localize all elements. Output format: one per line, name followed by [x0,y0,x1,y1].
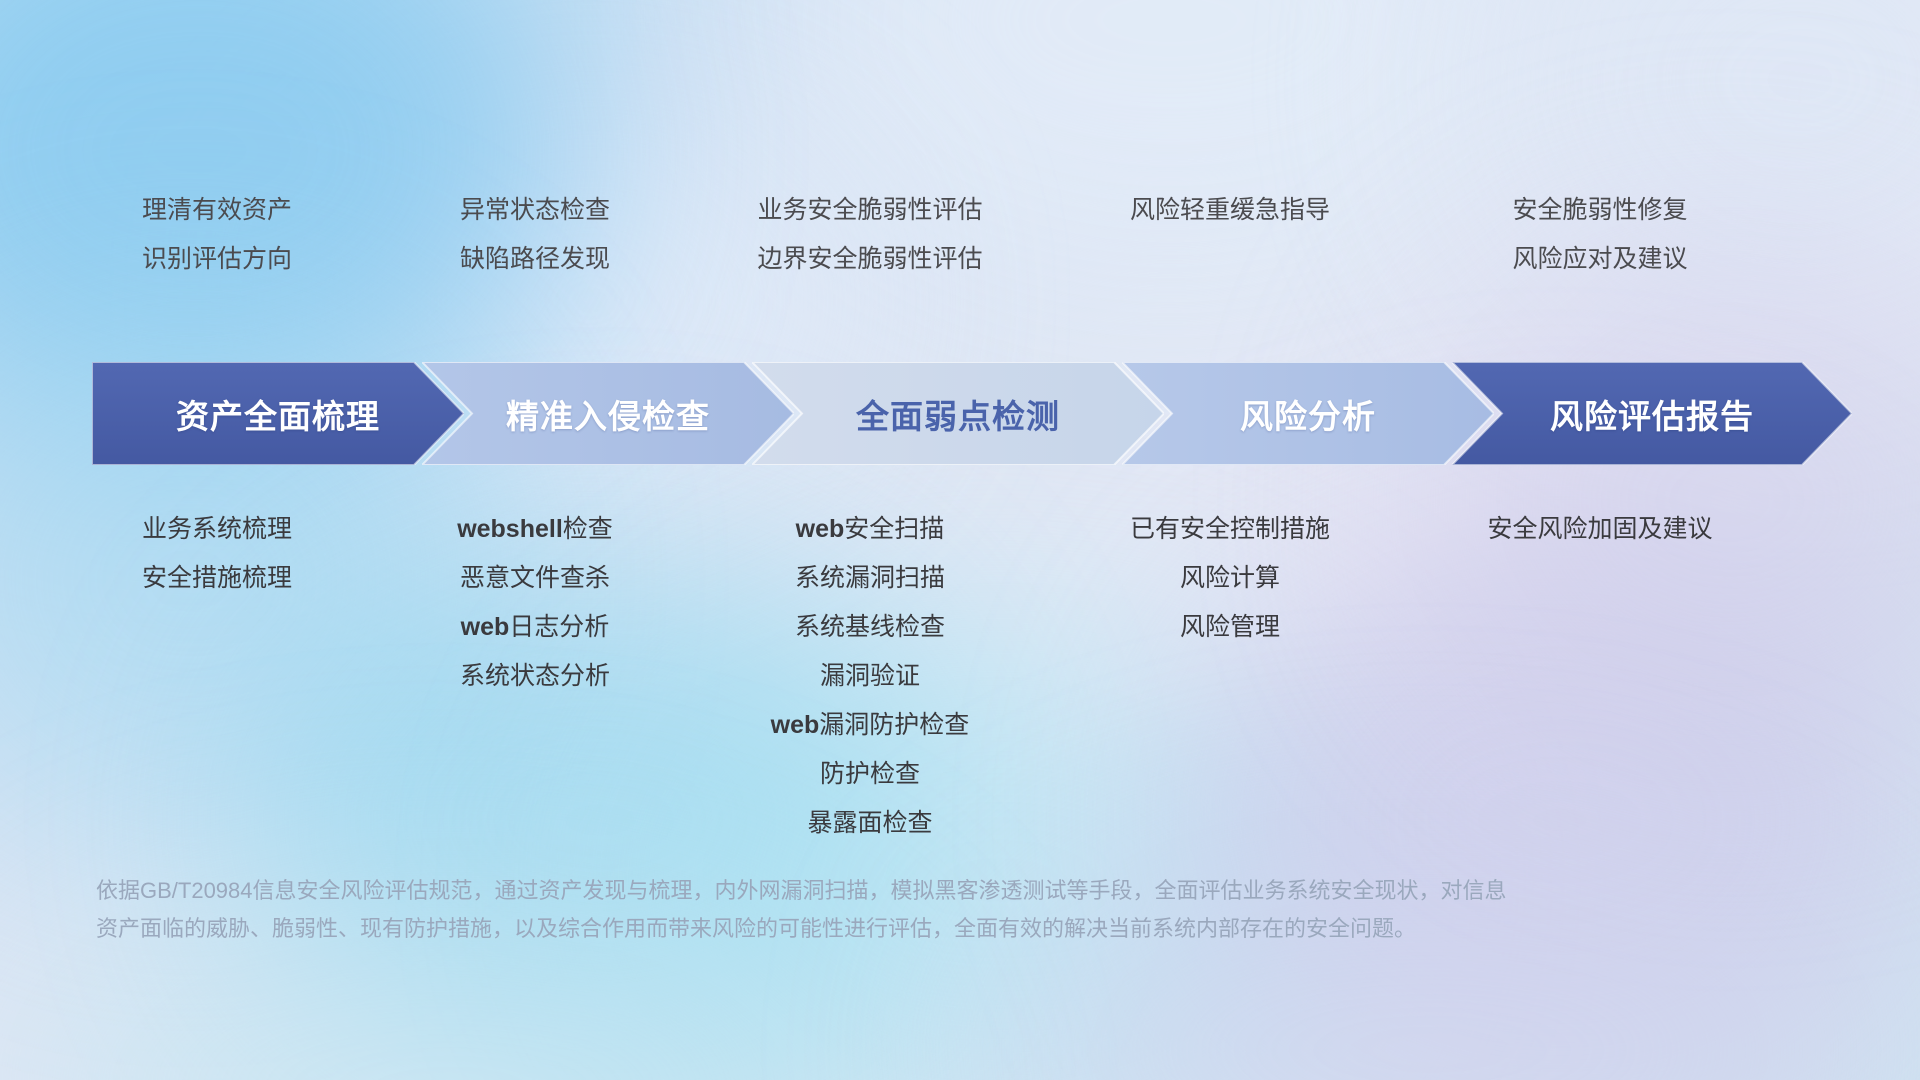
bottom-item-rest: 安全措施梳理 [142,564,292,592]
bottom-item-rest: 检查 [563,515,613,543]
bottom-item-rest: 风险管理 [1180,613,1280,641]
top-label: 安全脆弱性修复 [1390,186,1810,235]
bottom-item-bold: web [461,613,510,641]
process-stage-label: 风险评估报告 [1550,390,1754,438]
top-label: 理清有效资产 [52,186,382,235]
bottom-item-rest: 风险计算 [1180,564,1280,592]
bottom-items-stage-4: 已有安全控制措施 风险计算 风险管理 [1050,505,1410,652]
top-labels-stage-1: 理清有效资产 识别评估方向 [52,186,382,284]
process-stage-arrow-5[interactable]: 风险评估报告 [1452,362,1852,465]
process-stage-label: 全面弱点检测 [856,390,1060,438]
bottom-item: webshell检查 [390,505,680,554]
bottom-item: web日志分析 [390,603,680,652]
top-labels-stage-3: 业务安全脆弱性评估 边界安全脆弱性评估 [690,186,1050,284]
process-stage-label: 精准入侵检查 [506,390,710,438]
top-labels-stage-5: 安全脆弱性修复 风险应对及建议 [1390,186,1810,284]
top-label: 风险应对及建议 [1390,235,1810,284]
bottom-item: 系统漏洞扫描 [690,554,1050,603]
bottom-item: web安全扫描 [690,505,1050,554]
bottom-item: 防护检查 [690,750,1050,799]
bottom-item: 漏洞验证 [690,652,1050,701]
top-labels-stage-4: 风险轻重缓急指导 [1050,186,1410,235]
bottom-item: 业务系统梳理 [52,505,382,554]
bottom-item-rest: 安全风险加固及建议 [1487,515,1712,543]
bottom-items-stage-2: webshell检查 恶意文件查杀 web日志分析 系统状态分析 [390,505,680,701]
process-stage-label: 风险分析 [1240,390,1376,438]
bottom-item-rest: 安全扫描 [844,515,944,543]
bottom-item-rest: 系统漏洞扫描 [795,564,945,592]
bottom-item-rest: 系统基线检查 [795,613,945,641]
bottom-item-rest: 暴露面检查 [807,809,932,837]
process-arrow-band: 资产全面梳理 精准入侵检查 [92,362,1852,465]
process-stage-arrow-2[interactable]: 精准入侵检查 [422,362,794,465]
bottom-item: 已有安全控制措施 [1050,505,1410,554]
top-label: 识别评估方向 [52,235,382,284]
process-diagram: 理清有效资产 识别评估方向 异常状态检查 缺陷路径发现 业务安全脆弱性评估 边界… [0,0,1920,1080]
bottom-item-rest: 防护检查 [820,760,920,788]
bottom-items-stage-1: 业务系统梳理 安全措施梳理 [52,505,382,603]
bottom-item-rest: 业务系统梳理 [142,515,292,543]
bottom-item: 风险管理 [1050,603,1410,652]
bottom-item-bold: webshell [457,515,563,543]
bottom-item-rest: 漏洞防护检查 [819,711,969,739]
process-stage-arrow-3[interactable]: 全面弱点检测 [752,362,1164,465]
bottom-item-bold: web [796,515,845,543]
bottom-items-stage-5: 安全风险加固及建议 [1390,505,1810,554]
bottom-item: 安全措施梳理 [52,554,382,603]
bottom-items-stage-3: web安全扫描 系统漏洞扫描 系统基线检查 漏洞验证 web漏洞防护检查 防护检… [690,505,1050,848]
bottom-item-rest: 恶意文件查杀 [460,564,610,592]
bottom-item: 系统基线检查 [690,603,1050,652]
top-label: 边界安全脆弱性评估 [690,235,1050,284]
process-stage-arrow-4[interactable]: 风险分析 [1122,362,1494,465]
top-labels-stage-2: 异常状态检查 缺陷路径发现 [390,186,680,284]
top-label: 业务安全脆弱性评估 [690,186,1050,235]
top-label: 风险轻重缓急指导 [1050,186,1410,235]
footer-line-2: 资产面临的威胁、脆弱性、现有防护措施，以及综合作用而带来风险的可能性进行评估，全… [96,910,1616,948]
footer-description: 依据GB/T20984信息安全风险评估规范，通过资产发现与梳理，内外网漏洞扫描，… [96,872,1616,948]
top-label: 缺陷路径发现 [390,235,680,284]
bottom-item-rest: 漏洞验证 [820,662,920,690]
bottom-item-rest: 日志分析 [509,613,609,641]
process-stage-label: 资产全面梳理 [176,390,380,438]
footer-line-1: 依据GB/T20984信息安全风险评估规范，通过资产发现与梳理，内外网漏洞扫描，… [96,872,1616,910]
bottom-item: 系统状态分析 [390,652,680,701]
bottom-item: 安全风险加固及建议 [1390,505,1810,554]
bottom-item: 风险计算 [1050,554,1410,603]
bottom-item-rest: 已有安全控制措施 [1130,515,1330,543]
bottom-item: 恶意文件查杀 [390,554,680,603]
bottom-item: 暴露面检查 [690,799,1050,848]
bottom-item-rest: 系统状态分析 [460,662,610,690]
process-stage-arrow-1[interactable]: 资产全面梳理 [92,362,464,465]
bottom-item-bold: web [771,711,820,739]
top-label: 异常状态检查 [390,186,680,235]
bottom-item: web漏洞防护检查 [690,701,1050,750]
